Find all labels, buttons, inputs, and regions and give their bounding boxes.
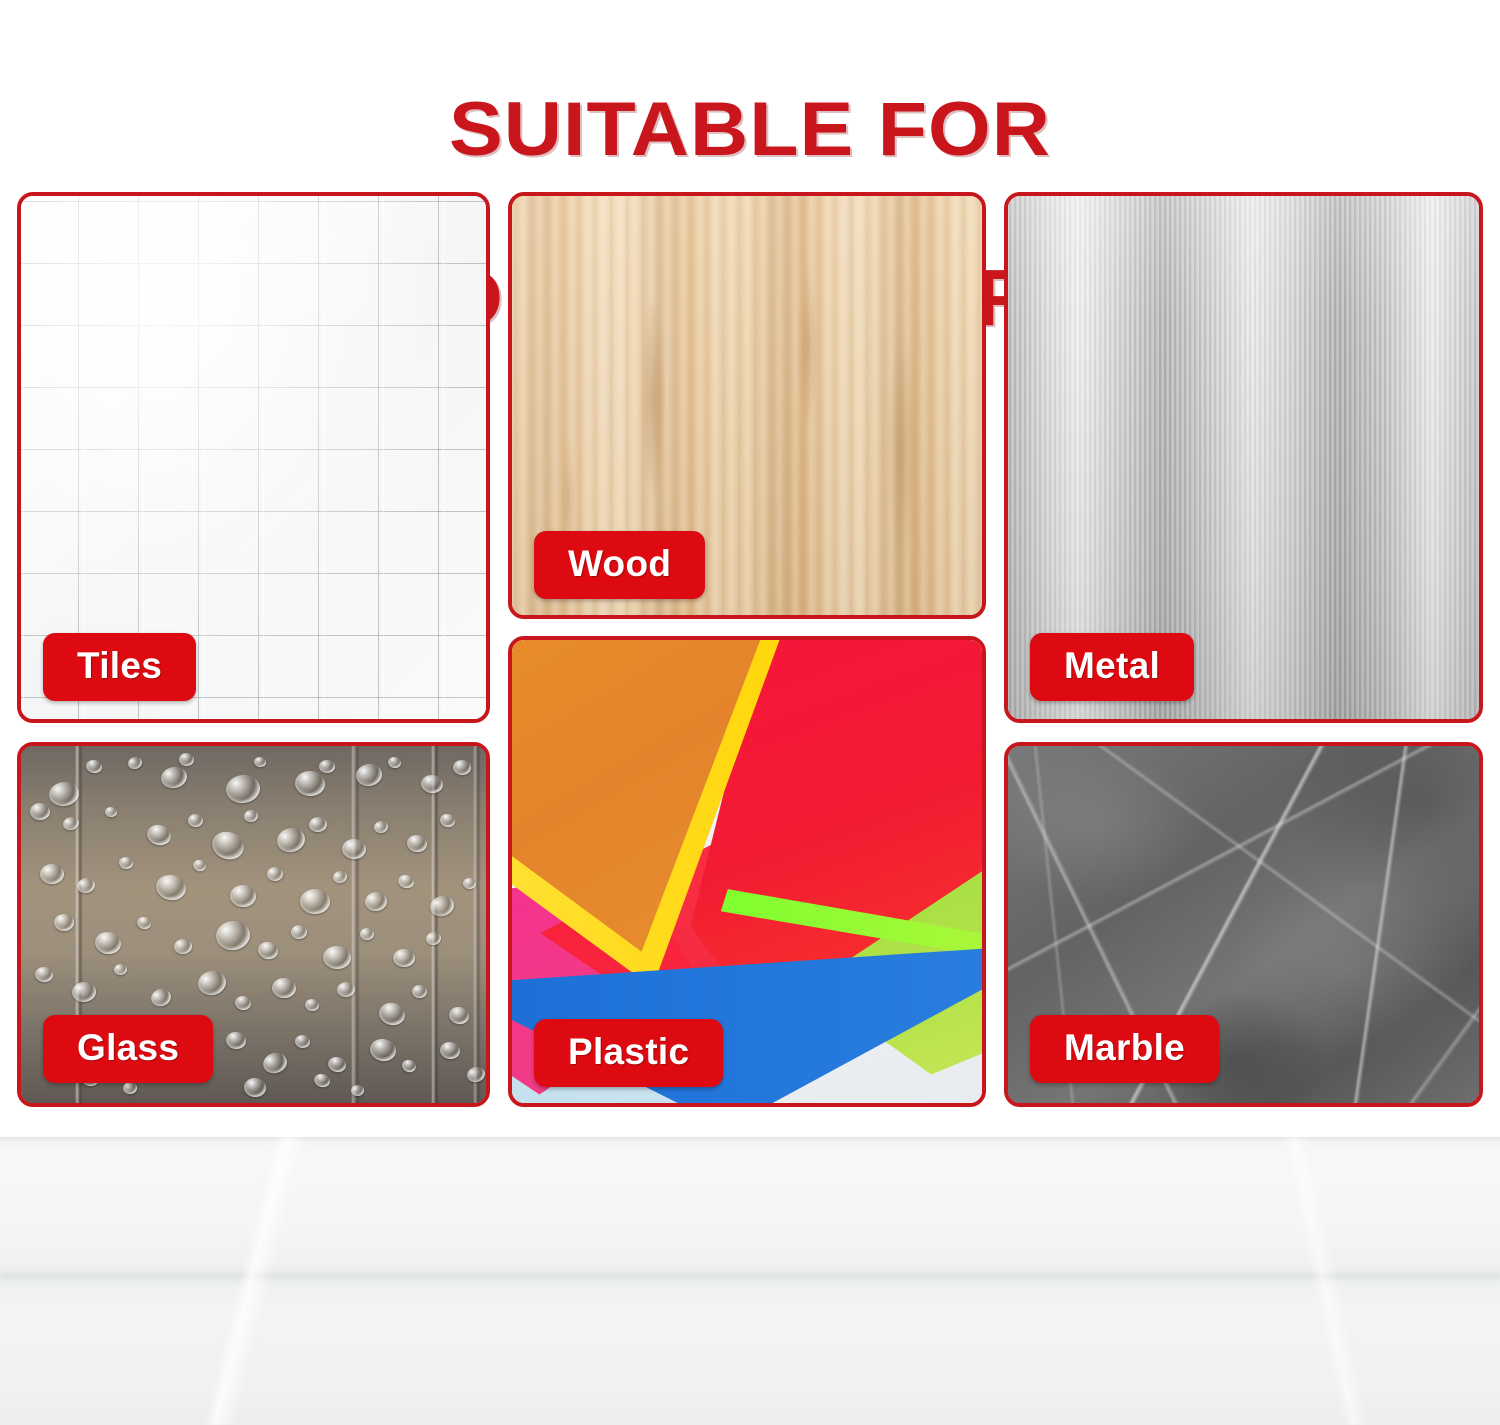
surface-label-tiles: Tiles	[43, 633, 196, 701]
surface-panel-grid: Tiles Wood Metal Glass	[17, 192, 1483, 1107]
page-title-line-1: SUITABLE FOR	[0, 88, 1500, 172]
bottom-product-surface	[0, 1137, 1500, 1425]
surface-label-wood: Wood	[534, 531, 705, 599]
water-droplet	[54, 914, 74, 931]
surface-label-marble: Marble	[1030, 1015, 1219, 1083]
surface-panel-wood: Wood	[508, 192, 986, 619]
grid-bottom-gap	[0, 1107, 1500, 1137]
surface-panel-tiles: Tiles	[17, 192, 490, 723]
surface-panel-marble: Marble	[1004, 742, 1483, 1107]
water-droplet	[319, 760, 335, 773]
water-droplet	[290, 924, 307, 939]
water-droplet	[300, 889, 330, 914]
surface-label-plastic: Plastic	[534, 1019, 723, 1087]
surface-label-glass: Glass	[43, 1015, 213, 1083]
surface-panel-plastic: Plastic	[508, 636, 986, 1107]
surface-label-metal: Metal	[1030, 633, 1194, 701]
water-droplet	[411, 985, 426, 998]
surface-panel-metal: Metal	[1004, 192, 1483, 723]
infographic-page: SUITABLE FOR VARIOUS OF SURFACES Tiles W…	[0, 0, 1500, 1425]
water-droplet	[342, 839, 366, 859]
surface-panel-glass: Glass	[17, 742, 490, 1107]
water-droplet	[104, 806, 117, 817]
